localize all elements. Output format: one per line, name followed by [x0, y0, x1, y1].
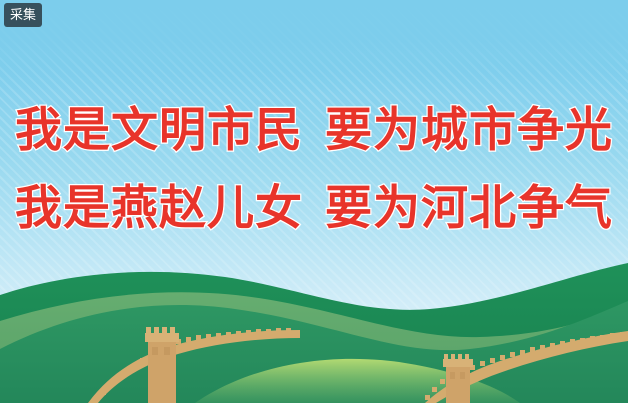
banner-root: 我是文明市民要为城市争光 我是燕赵儿女要为河北争气 采集 — [0, 0, 628, 403]
slogan-line-2: 我是燕赵儿女要为河北争气 — [0, 170, 628, 248]
slogan-line-1-right: 要为城市争光 — [325, 103, 613, 158]
slogan-text-block: 我是文明市民要为城市争光 我是燕赵儿女要为河北争气 — [0, 92, 628, 248]
watchtower-left — [145, 327, 179, 403]
landscape-illustration — [0, 253, 628, 403]
slogan-line-2-left: 我是燕赵儿女 — [15, 181, 303, 236]
capture-button[interactable]: 采集 — [4, 3, 42, 27]
sky-top-fade — [0, 0, 628, 95]
slogan-line-2-right: 要为河北争气 — [325, 181, 613, 236]
slogan-line-1: 我是文明市民要为城市争光 — [0, 92, 628, 170]
watchtower-right — [443, 354, 473, 403]
slogan-line-1-left: 我是文明市民 — [15, 103, 303, 158]
